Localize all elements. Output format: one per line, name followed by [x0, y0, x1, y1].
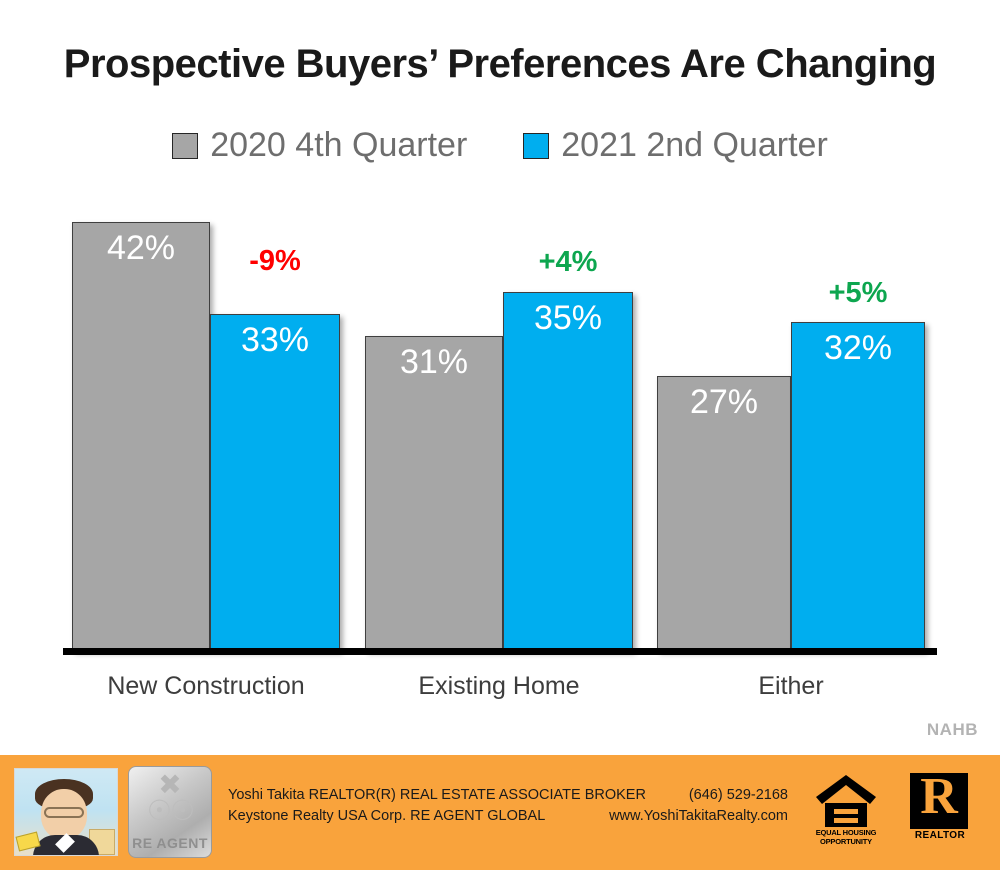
bar-new-construction-2021: 33% [210, 314, 340, 651]
equal-housing-house-icon [814, 773, 878, 829]
delta-existing-home: +4% [503, 246, 633, 279]
delta-either: +5% [791, 277, 925, 310]
bar-value-either-2021: 32% [792, 329, 924, 368]
chart-source-note: NAHB [927, 720, 978, 740]
delta-new-construction: -9% [210, 245, 340, 278]
footer-banner: ✖ ☉☉ RE AGENT Yoshi Takita REALTOR(R) RE… [0, 755, 1000, 870]
x-axis-line [63, 648, 937, 655]
x-axis-label-existing-home: Existing Home [365, 672, 633, 701]
contact-row-1: Yoshi Takita REALTOR(R) REAL ESTATE ASSO… [228, 785, 788, 806]
agent-phone[interactable]: (646) 529-2168 [689, 785, 788, 806]
equal-housing-opportunity-logo: EQUAL HOUSING OPPORTUNITY [810, 773, 882, 853]
key-rings-icon: ☉☉ [129, 797, 211, 825]
bar-value-new-construction-2020: 42% [73, 229, 209, 268]
realtor-logo: R REALTOR [908, 773, 972, 853]
re-agent-badge-logo: ✖ ☉☉ RE AGENT [128, 766, 212, 858]
realtor-r-glyph: R [910, 769, 968, 825]
bar-either-2021: 32% [791, 322, 925, 651]
realtor-r-box: R [910, 773, 968, 829]
re-agent-badge-text: RE AGENT [129, 835, 211, 851]
bar-value-existing-home-2020: 31% [366, 343, 502, 382]
bar-value-either-2020: 27% [658, 383, 790, 422]
equal-housing-text: EQUAL HOUSING OPPORTUNITY [810, 829, 882, 846]
realtor-wordmark: REALTOR [908, 830, 972, 841]
bar-chart-plot-area: 42% 33% -9% 31% 35% +4% 27% 32% +5% New … [0, 0, 1000, 760]
bar-value-existing-home-2021: 35% [504, 299, 632, 338]
bar-value-new-construction-2021: 33% [211, 321, 339, 360]
bar-existing-home-2021: 35% [503, 292, 633, 651]
agent-portrait-image [14, 768, 118, 856]
agent-contact-block: Yoshi Takita REALTOR(R) REAL ESTATE ASSO… [228, 785, 788, 827]
contact-row-2: Keystone Realty USA Corp. RE AGENT GLOBA… [228, 806, 788, 827]
agent-brokerage: Keystone Realty USA Corp. RE AGENT GLOBA… [228, 806, 545, 827]
agent-website[interactable]: www.YoshiTakitaRealty.com [609, 806, 788, 827]
x-axis-label-new-construction: New Construction [72, 672, 340, 701]
bar-either-2020: 27% [657, 376, 791, 651]
x-axis-label-either: Either [657, 672, 925, 701]
portrait-glasses [44, 807, 84, 818]
agent-name-and-title: Yoshi Takita REALTOR(R) REAL ESTATE ASSO… [228, 785, 646, 806]
bar-new-construction-2020: 42% [72, 222, 210, 651]
eho-line-2: OPPORTUNITY [810, 838, 882, 847]
bar-existing-home-2020: 31% [365, 336, 503, 651]
